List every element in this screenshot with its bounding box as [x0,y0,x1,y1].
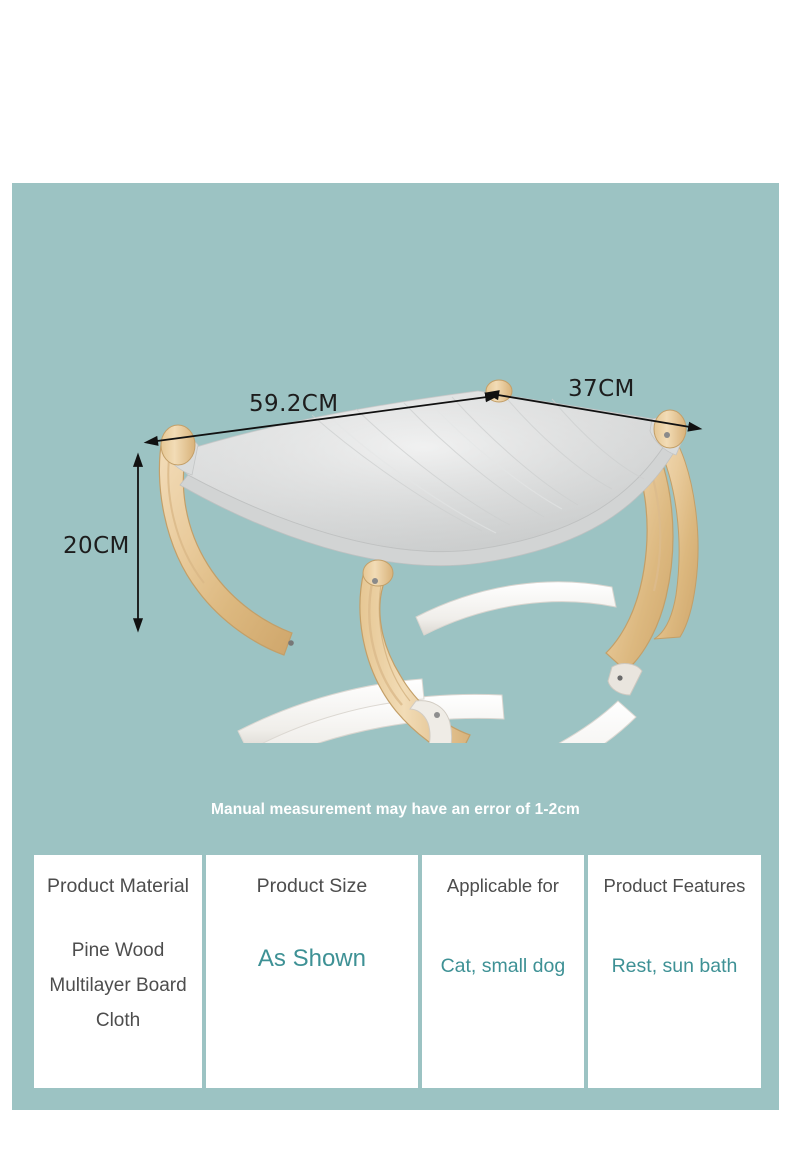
spec-value-line: As Shown [258,941,366,976]
spec-card-material: Product Material Pine Wood Multilayer Bo… [34,855,202,1088]
spec-value-size: As Shown [258,941,366,976]
spec-value-line: Rest, sun bath [612,949,738,984]
spec-header-material: Product Material [47,873,189,899]
dimension-label-width: 59.2CM [249,391,339,417]
measurement-disclaimer: Manual measurement may have an error of … [12,801,779,819]
spec-card-applicable-for: Applicable for Cat, small dog [422,855,584,1088]
spec-value-line: Cloth [49,1003,186,1038]
spec-value-applicable-for: Cat, small dog [441,949,566,984]
spec-value-line: Multilayer Board [49,968,186,1003]
spec-header-features: Product Features [604,873,746,899]
dimension-label-depth: 37CM [568,376,635,402]
spec-header-size: Product Size [257,873,368,899]
spec-value-line: Pine Wood [49,933,186,968]
spec-value-line: Cat, small dog [441,949,566,984]
product-info-panel: 59.2CM 37CM 20CM Manual measurement may … [12,183,779,1110]
dimension-annotations [12,183,779,743]
spec-card-size: Product Size As Shown [206,855,418,1088]
spec-value-features: Rest, sun bath [612,949,738,984]
specification-table: Product Material Pine Wood Multilayer Bo… [34,855,761,1088]
spec-header-applicable-for: Applicable for [447,873,559,899]
dimension-label-height: 20CM [63,533,130,559]
spec-card-features: Product Features Rest, sun bath [588,855,761,1088]
spec-value-material: Pine Wood Multilayer Board Cloth [49,933,186,1038]
